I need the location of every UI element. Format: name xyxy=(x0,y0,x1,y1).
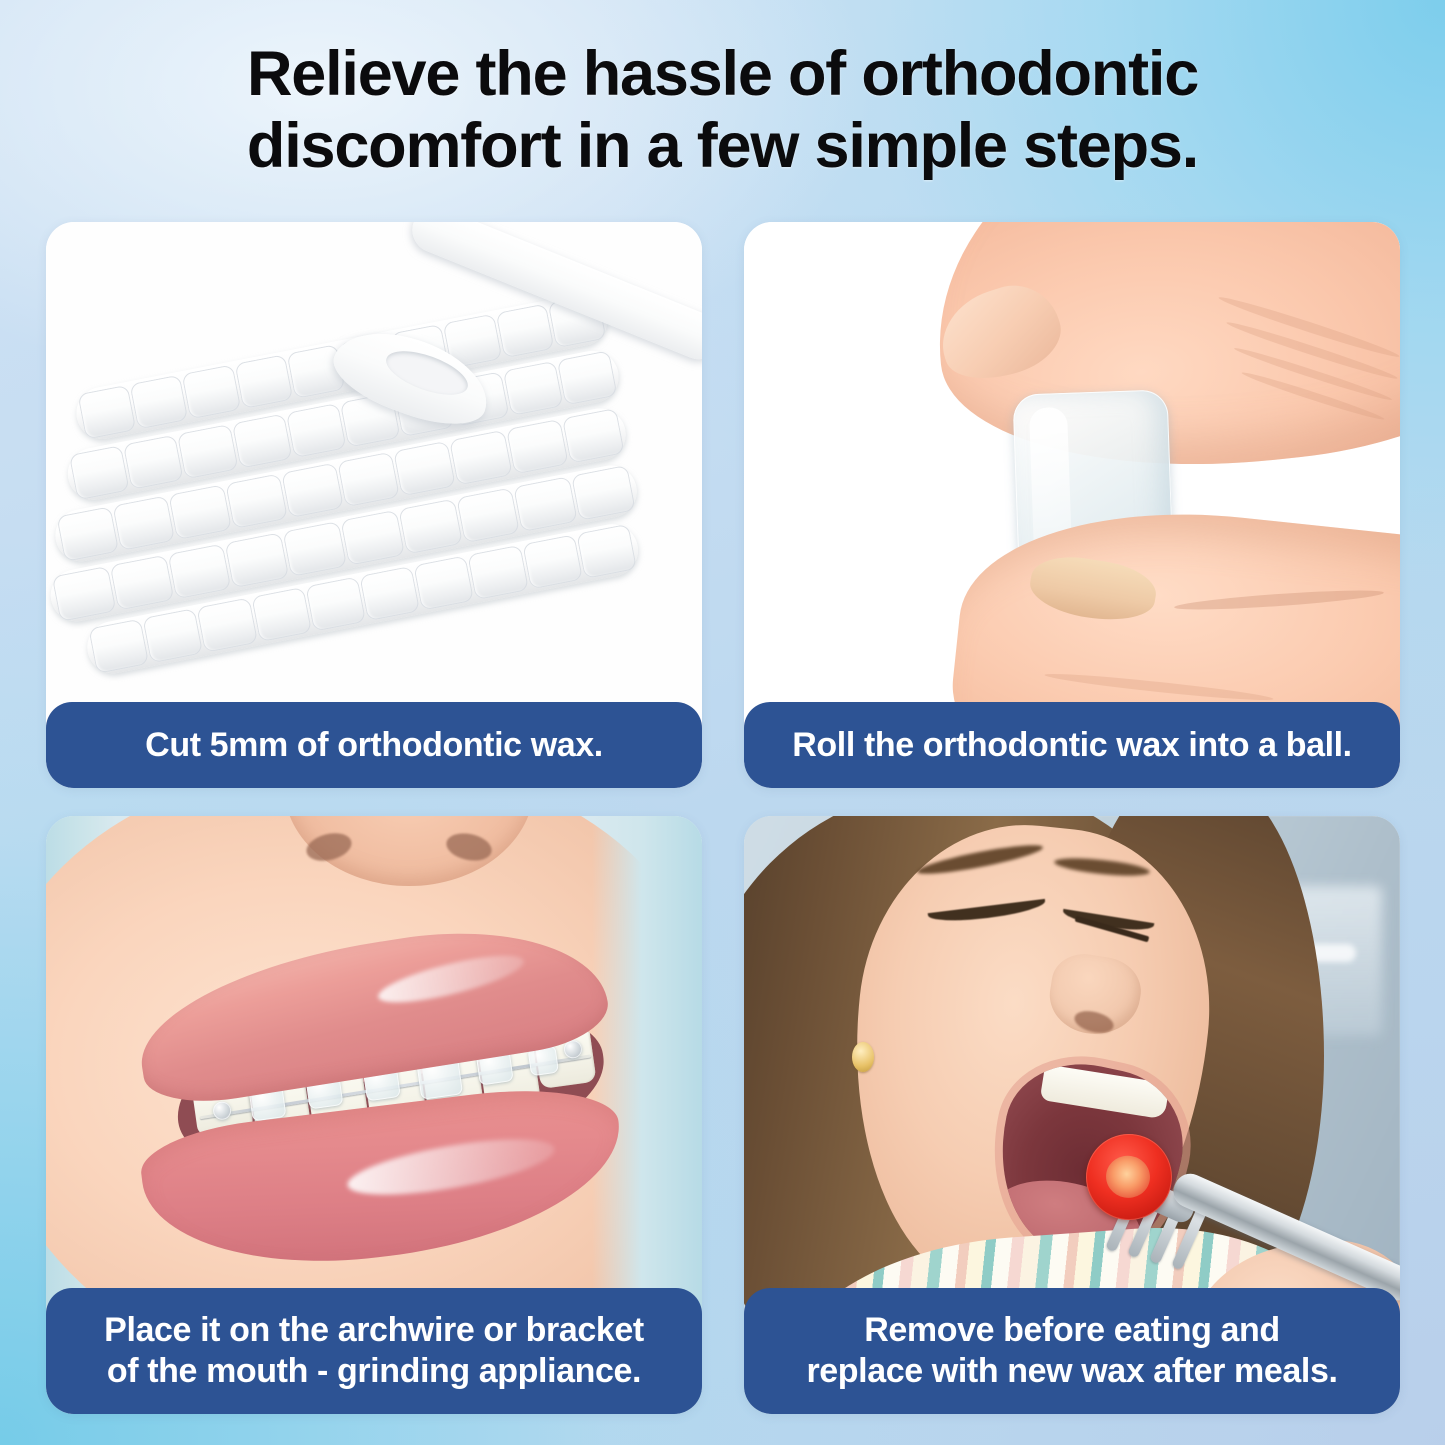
step-4-caption: Remove before eating and replace with ne… xyxy=(744,1288,1400,1414)
step-3-caption-line-1: Place it on the archwire or bracket xyxy=(64,1310,684,1351)
step-3-caption-line-2: of the mouth - grinding appliance. xyxy=(64,1351,684,1392)
step-card-4: Remove before eating and replace with ne… xyxy=(744,816,1400,1414)
page-title-line-2: discomfort in a few simple steps. xyxy=(95,110,1350,182)
page-title-line-1: Relieve the hassle of orthodontic xyxy=(95,38,1350,110)
steps-grid: Cut 5mm of orthodontic wax. R xyxy=(46,222,1400,1414)
step-card-2: Roll the orthodontic wax into a ball. xyxy=(744,222,1400,788)
step-4-caption-text: Remove before eating and replace with ne… xyxy=(762,1310,1382,1392)
instruction-poster: Relieve the hassle of orthodontic discom… xyxy=(0,0,1445,1445)
page-title: Relieve the hassle of orthodontic discom… xyxy=(0,38,1445,183)
step-1-caption-line-1: Cut 5mm of orthodontic wax. xyxy=(72,725,676,766)
step-1-caption: Cut 5mm of orthodontic wax. xyxy=(46,702,702,788)
step-2-caption: Roll the orthodontic wax into a ball. xyxy=(744,702,1400,788)
step-4-caption-line-1: Remove before eating and xyxy=(762,1310,1382,1351)
tomato-core xyxy=(1103,1152,1154,1201)
step-3-caption: Place it on the archwire or bracket of t… xyxy=(46,1288,702,1414)
step-card-1: Cut 5mm of orthodontic wax. xyxy=(46,222,702,788)
step-2-caption-line-1: Roll the orthodontic wax into a ball. xyxy=(770,725,1374,766)
step-card-3: Place it on the archwire or bracket of t… xyxy=(46,816,702,1414)
step-3-caption-text: Place it on the archwire or bracket of t… xyxy=(64,1310,684,1392)
step-4-caption-line-2: replace with new wax after meals. xyxy=(762,1351,1382,1392)
earring xyxy=(852,1042,874,1072)
